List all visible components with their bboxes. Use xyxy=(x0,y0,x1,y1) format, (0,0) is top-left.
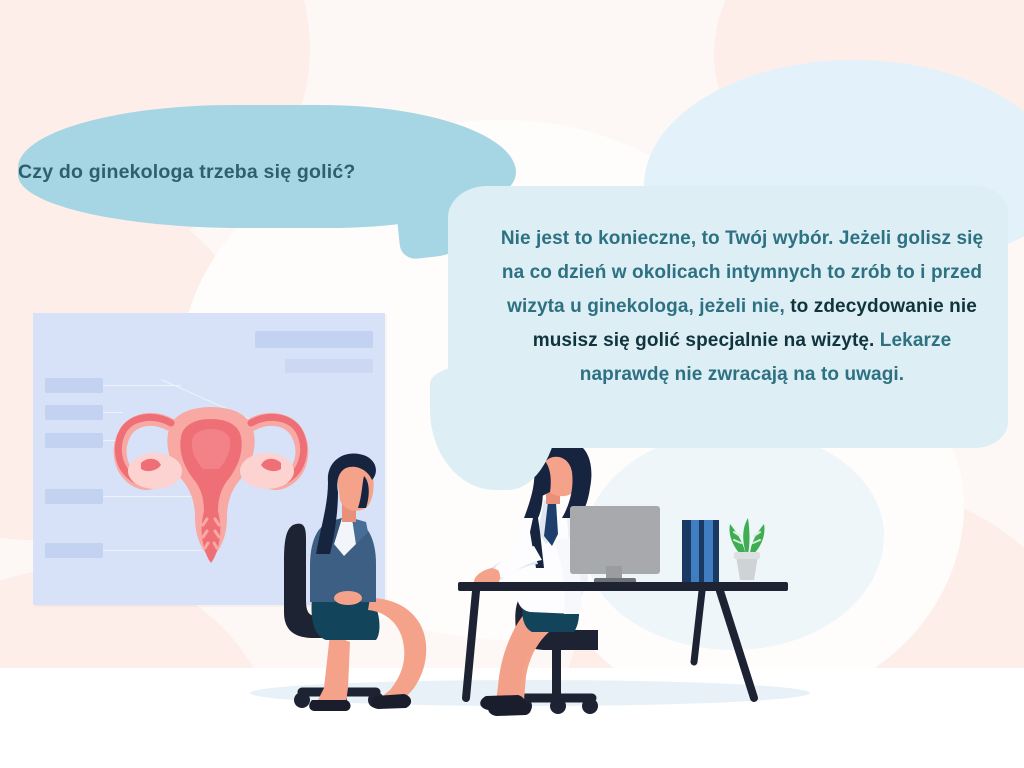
illustration-canvas: Czy do ginekologa trzeba się golić? Nie … xyxy=(0,0,1024,768)
answer-bubble-text: Nie jest to konieczne, to Twój wybór. Je… xyxy=(492,222,992,392)
poster-label-bar-left-5 xyxy=(45,543,103,558)
patient-figure xyxy=(272,452,472,722)
poster-label-bar-left-3 xyxy=(45,433,103,448)
question-bubble-text: Czy do ginekologa trzeba się golić? xyxy=(18,161,488,184)
poster-label-bar-top-1 xyxy=(255,331,373,348)
poster-label-bar-left-2 xyxy=(45,405,103,420)
poster-label-bar-left-1 xyxy=(45,378,103,393)
poster-label-bar-left-4 xyxy=(45,489,103,504)
